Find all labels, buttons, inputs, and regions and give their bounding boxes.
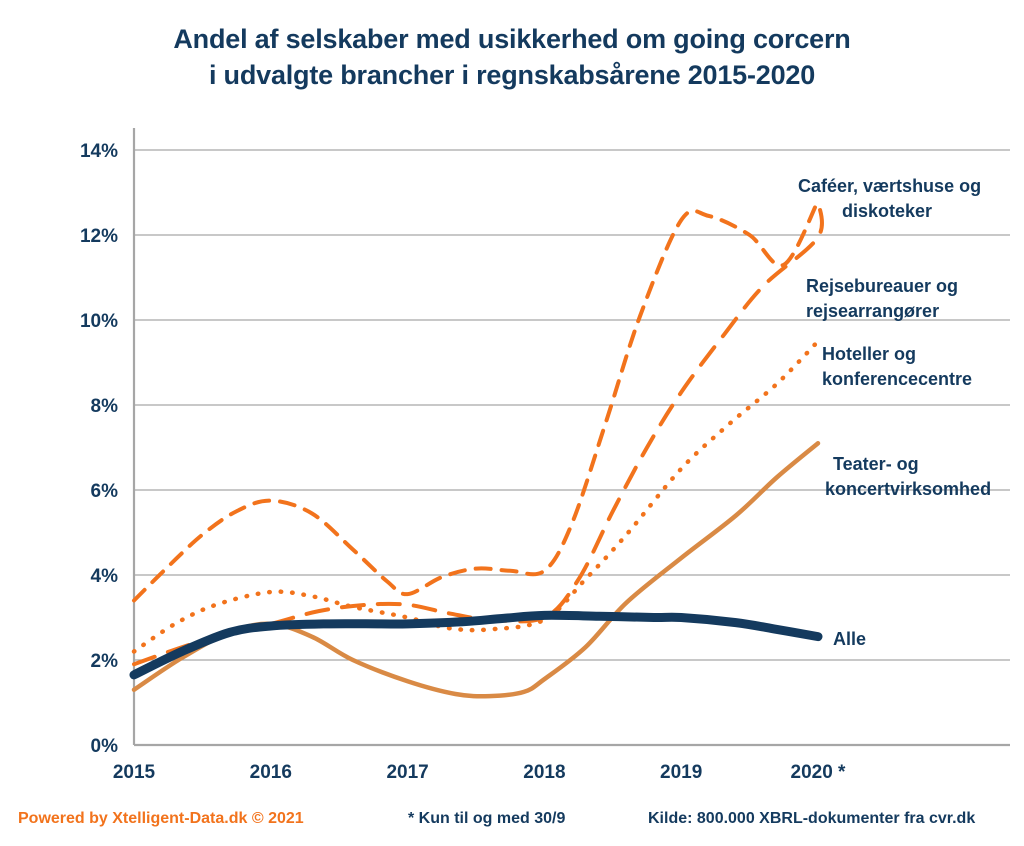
series-label: diskoteker	[842, 201, 932, 221]
series-label: konferencecentre	[822, 369, 972, 389]
y-axis-ticks: 0%2%4%6%8%10%12%14%	[80, 141, 118, 757]
series-label: Alle	[833, 629, 866, 649]
footer-powered-by: Powered by Xtelligent-Data.dk © 2021	[18, 810, 304, 828]
series-line	[134, 615, 818, 675]
x-tick-label: 2015	[113, 762, 156, 783]
y-tick-label: 8%	[91, 396, 119, 417]
series-label: Caféer, værtshuse og	[798, 176, 981, 196]
chart-container: Andel af selskaber med usikkerhed om goi…	[0, 0, 1024, 846]
y-tick-label: 14%	[80, 141, 118, 162]
x-tick-label: 2018	[523, 762, 565, 783]
y-tick-label: 10%	[80, 311, 118, 332]
y-tick-label: 4%	[91, 566, 119, 587]
series-labels: Caféer, værtshuse ogdiskotekerRejseburea…	[798, 176, 991, 649]
series-line	[134, 341, 818, 651]
x-axis-ticks: 201520162017201820192020 *	[113, 762, 846, 783]
gridlines	[134, 150, 1010, 660]
series-line	[134, 201, 822, 664]
series-label: Hoteller og	[822, 344, 916, 364]
x-tick-label: 2020 *	[791, 762, 847, 783]
x-tick-label: 2019	[660, 762, 702, 783]
series-label: Rejsebureauer og	[806, 276, 958, 296]
x-tick-label: 2017	[386, 762, 428, 783]
series-paths	[134, 201, 822, 696]
line-chart-svg: 0%2%4%6%8%10%12%14% 20152016201720182019…	[0, 0, 1024, 846]
series-line	[134, 201, 818, 601]
y-tick-label: 6%	[91, 481, 119, 502]
y-tick-label: 2%	[91, 651, 119, 672]
series-label: koncertvirksomhed	[825, 479, 991, 499]
x-tick-label: 2016	[250, 762, 292, 783]
y-tick-label: 12%	[80, 226, 118, 247]
y-tick-label: 0%	[91, 736, 119, 757]
footer-note: * Kun til og med 30/9	[408, 810, 565, 828]
series-label: Teater- og	[833, 454, 919, 474]
series-label: rejsearrangører	[806, 301, 939, 321]
footer-source: Kilde: 800.000 XBRL-dokumenter fra cvr.d…	[648, 810, 975, 828]
